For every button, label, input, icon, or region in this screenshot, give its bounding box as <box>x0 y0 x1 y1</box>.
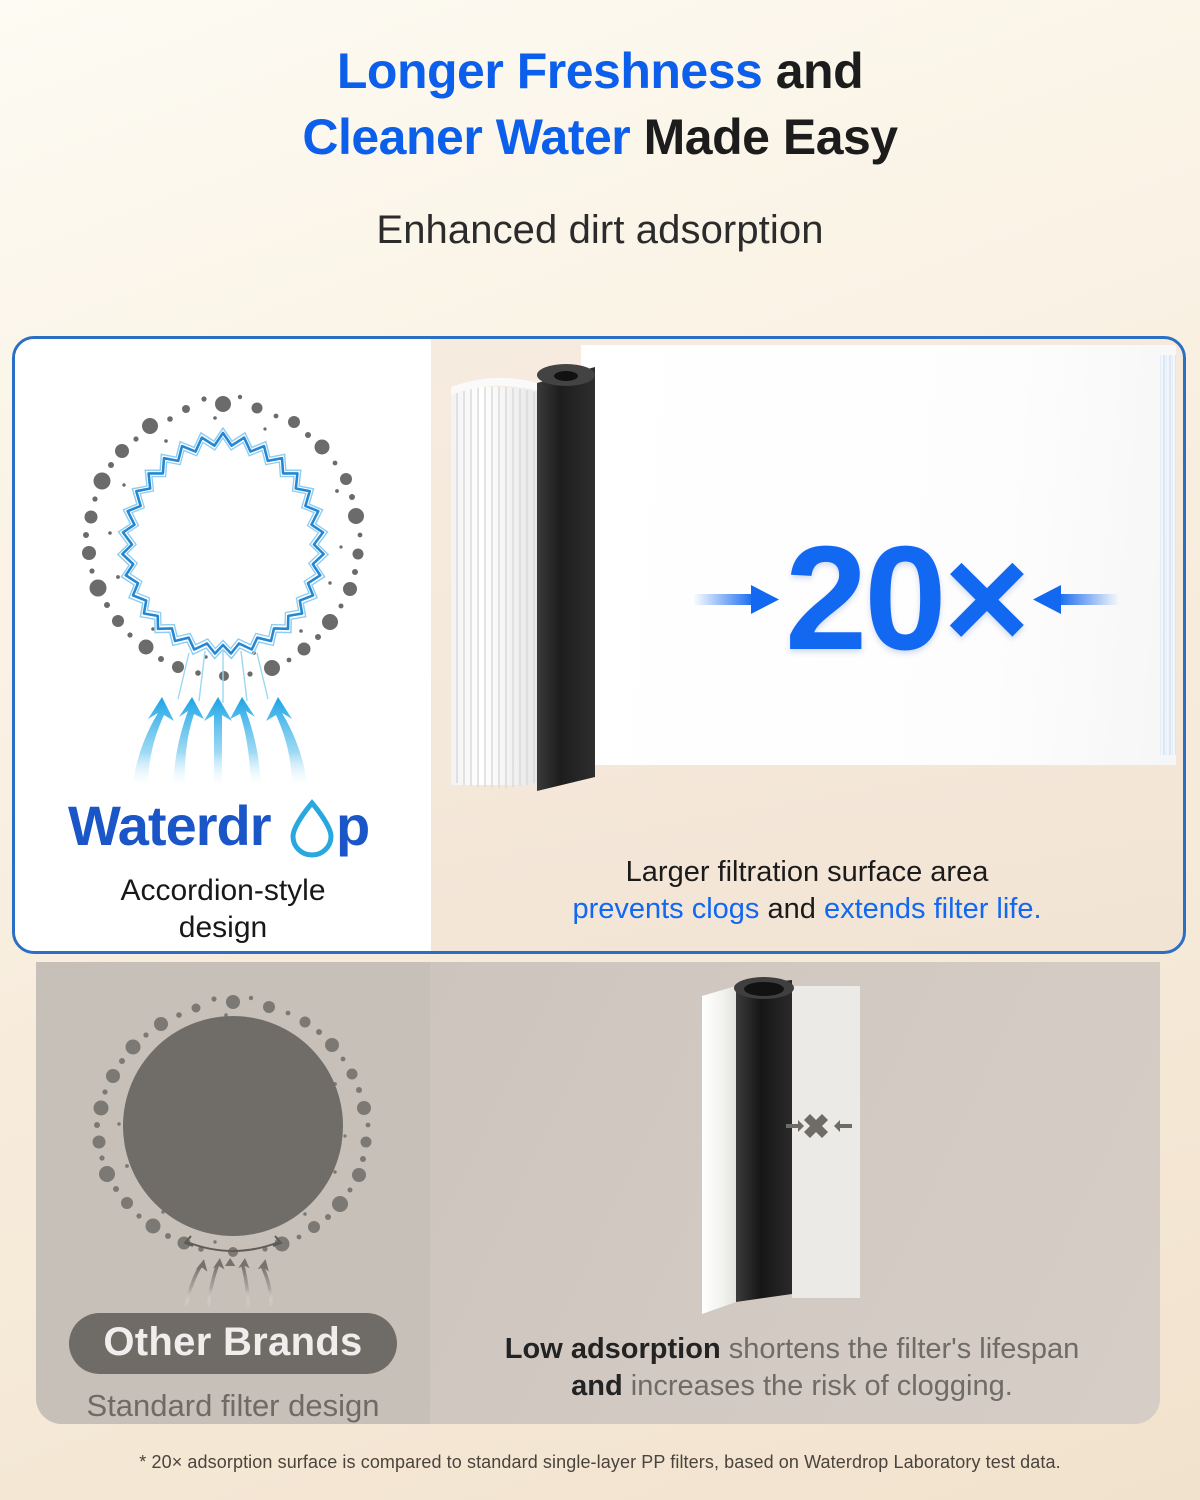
upward-low-flow-arrows-icon <box>138 1258 328 1307</box>
benefit-caption-mid: and <box>759 893 824 925</box>
waterdrop-highlight-panel: Waterdr p Accordion-style design <box>12 336 1186 954</box>
benefit-caption-line1: Larger filtration surface area <box>626 856 989 888</box>
drawback-highlight-1: Low adsorption <box>505 1333 721 1365</box>
standard-filter-cartridge-image <box>680 972 900 1342</box>
accordion-design-caption: Accordion-style design <box>120 873 325 946</box>
page-header: Longer Freshness and Cleaner Water Made … <box>0 0 1200 253</box>
page-title: Longer Freshness and Cleaner Water Made … <box>60 38 1140 170</box>
accordion-caption-line2: design <box>179 911 267 944</box>
standard-filter-area: Low adsorption shortens the filter's lif… <box>430 962 1160 1424</box>
accordion-caption-line1: Accordion-style <box>120 874 325 907</box>
benefit-highlight-2: extends filter life. <box>824 893 1042 925</box>
other-brands-panel: Other Brands Standard filter design <box>36 962 1160 1424</box>
multiplier-value: 20× <box>785 525 1027 673</box>
headline-highlight-2: Cleaner Water <box>302 109 630 165</box>
waterdrop-benefit-caption: Larger filtration surface area prevents … <box>431 854 1183 929</box>
waterdrop-logo-text-part2: p <box>336 795 369 857</box>
other-brands-badge: Other Brands <box>69 1313 396 1374</box>
headline-highlight-1: Longer Freshness <box>337 43 762 99</box>
waterdrop-brand-card: Waterdr p Accordion-style design <box>15 339 431 951</box>
headline-rest-2: Made Easy <box>630 109 897 165</box>
headline-rest-1: and <box>762 43 863 99</box>
waterdrop-product-area: 20× Larger filtration surface area preve… <box>431 339 1183 951</box>
other-brands-drawback-caption: Low adsorption shortens the filter's lif… <box>438 1331 1146 1406</box>
drawback-text-2: increases the risk of clogging. <box>623 1370 1013 1402</box>
footnote-disclaimer: * 20× adsorption surface is compared to … <box>0 1452 1200 1473</box>
standard-design-caption: Standard filter design <box>87 1388 380 1424</box>
drawback-highlight-2: and <box>571 1370 623 1402</box>
arrow-right-icon <box>693 579 785 619</box>
page-subtitle: Enhanced dirt adsorption <box>0 208 1200 253</box>
waterdrop-logo-text-part1: Waterdr <box>68 795 271 857</box>
arrow-left-icon <box>1027 579 1119 619</box>
benefit-highlight-1: prevents clogs <box>572 893 759 925</box>
twenty-times-callout: 20× <box>626 514 1186 684</box>
standard-filter-dirt-icon <box>83 984 383 1284</box>
drawback-text-1: shortens the filter's lifespan <box>721 1333 1080 1365</box>
waterdrop-logo: Waterdr p <box>68 795 378 861</box>
other-brands-card: Other Brands Standard filter design <box>36 962 430 1424</box>
pleated-filter-cartridge-image <box>445 347 615 827</box>
accordion-dirt-adsorption-icon <box>58 381 388 711</box>
water-drop-icon <box>293 803 331 855</box>
